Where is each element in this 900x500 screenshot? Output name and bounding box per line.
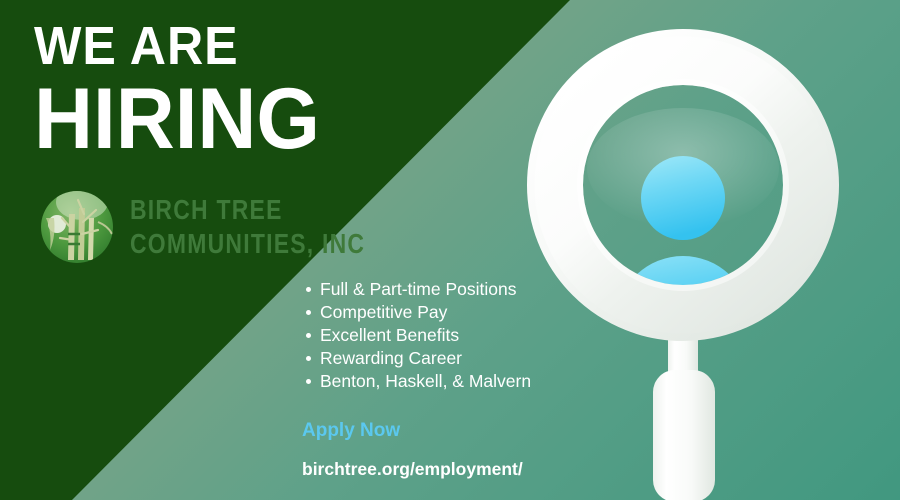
headline-line-2: HIRING: [34, 76, 320, 162]
logo-wordmark-line-2: COMMUNITIES, INC: [130, 230, 365, 258]
application-url[interactable]: birchtree.org/employment/: [302, 458, 523, 480]
headline: WE ARE HIRING: [34, 18, 335, 162]
logo-wordmark-line-1: BIRCH TREE: [130, 196, 365, 224]
call-to-action: Apply Now birchtree.org/employment/: [302, 420, 523, 480]
headline-line-1: WE ARE: [34, 18, 314, 74]
apply-now-label: Apply Now: [302, 420, 523, 442]
birch-tree-circle-emblem: [38, 188, 116, 266]
benefits-list: Full & Part-time Positions Competitive P…: [300, 278, 531, 393]
company-logo: BIRCH TREE COMMUNITIES, INC: [38, 188, 417, 266]
list-item: Excellent Benefits: [320, 324, 531, 347]
hiring-poster: WE ARE HIRING: [0, 0, 900, 500]
magnifying-glass-person-icon: [525, 18, 845, 500]
list-item: Benton, Haskell, & Malvern: [320, 370, 531, 393]
logo-wordmark: BIRCH TREE COMMUNITIES, INC: [130, 196, 417, 258]
list-item: Rewarding Career: [320, 347, 531, 370]
list-item: Full & Part-time Positions: [320, 278, 531, 301]
list-item: Competitive Pay: [320, 301, 531, 324]
